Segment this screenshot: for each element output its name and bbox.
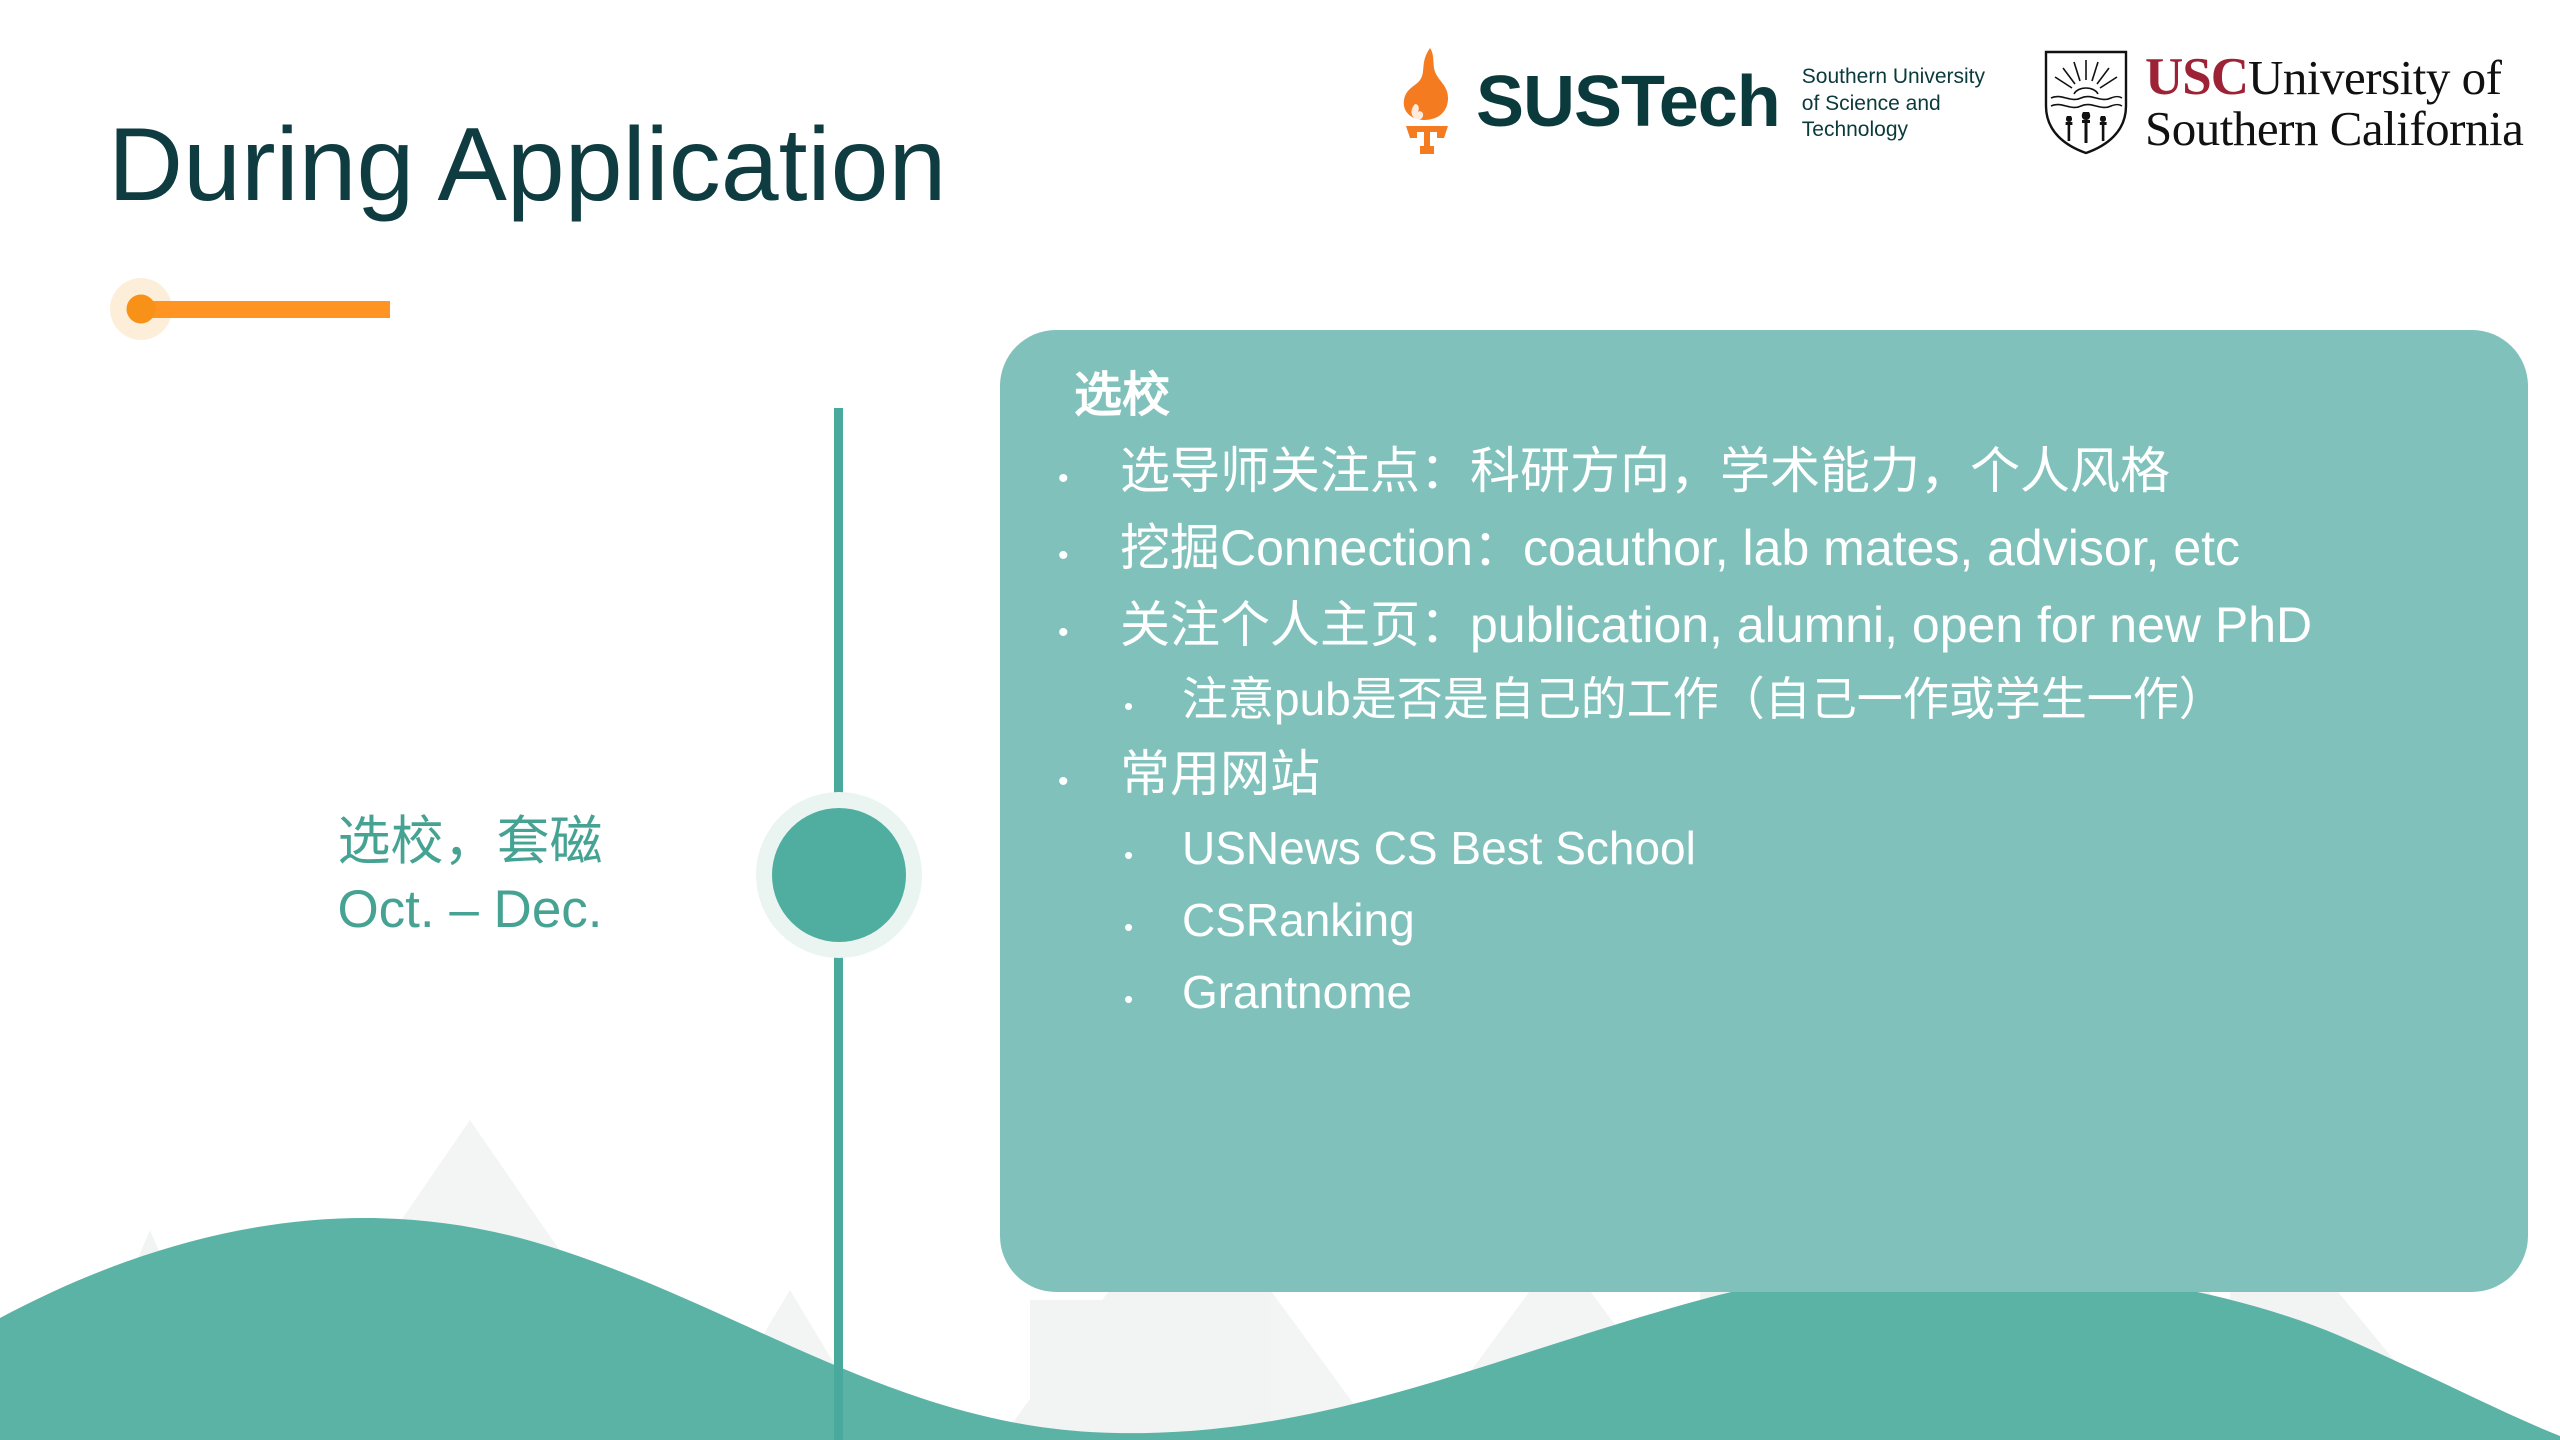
sustech-torch-icon xyxy=(1390,46,1464,158)
usc-shield-crest-icon xyxy=(2043,48,2129,156)
usc-wordmark: USCUniversity of Southern California xyxy=(2145,51,2523,153)
sustech-wordmark-main: SUST xyxy=(1476,62,1659,142)
list-item: • USNews CS Best School xyxy=(1124,819,2488,879)
page-title: During Application xyxy=(108,108,946,222)
list-item: • 选导师关注点：科研方向，学术能力，个人风格 xyxy=(1058,439,2488,504)
bullet-dot-icon: • xyxy=(1058,767,1120,797)
sustech-tagline-line-2: of Science and xyxy=(1802,91,1985,118)
list-item-label: 挖掘Connection：coauthor, lab mates, adviso… xyxy=(1120,516,2240,581)
list-item: • 挖掘Connection：coauthor, lab mates, advi… xyxy=(1058,516,2488,581)
list-item: • 关注个人主页：publication, alumni, open for n… xyxy=(1058,593,2488,658)
card-heading: 选校 xyxy=(1074,364,2488,427)
list-item-label: CSRanking xyxy=(1182,891,1415,951)
timeline-label-line-1: 选校，套磁 xyxy=(200,808,740,876)
bullet-dot-icon: • xyxy=(1124,693,1182,719)
list-item: • CSRanking xyxy=(1124,891,2488,951)
bullet-dot-icon: • xyxy=(1058,464,1120,494)
content-card: 选校 • 选导师关注点：科研方向，学术能力，个人风格 • 挖掘Connectio… xyxy=(1000,330,2528,1292)
bullet-dot-icon: • xyxy=(1124,842,1182,868)
list-item: • Grantnome xyxy=(1124,963,2488,1023)
sustech-tagline-line-1: Southern University xyxy=(1802,64,1985,91)
bullet-dot-icon: • xyxy=(1058,541,1120,571)
usc-line-1: University of xyxy=(2248,50,2501,105)
list-item: • 注意pub是否是自己的工作（自己一作或学生一作） xyxy=(1124,670,2488,730)
bullet-dot-icon: • xyxy=(1124,914,1182,940)
timeline-label-line-2: Oct. – Dec. xyxy=(200,876,740,944)
list-item-label: 注意pub是否是自己的工作（自己一作或学生一作） xyxy=(1182,670,2225,730)
accent-dot xyxy=(127,295,156,324)
list-item-label: USNews CS Best School xyxy=(1182,819,1696,879)
sustech-logo: SUSTech Southern University of Science a… xyxy=(1390,46,1985,158)
bullet-list: • 选导师关注点：科研方向，学术能力，个人风格 • 挖掘Connection：c… xyxy=(1040,439,2488,1022)
list-item: • 常用网站 xyxy=(1058,742,2488,807)
list-item-label: 选导师关注点：科研方向，学术能力，个人风格 xyxy=(1120,439,2170,504)
sustech-tagline: Southern University of Science and Techn… xyxy=(1802,64,1985,145)
usc-line-2: Southern California xyxy=(2145,104,2523,153)
usc-wordmark-line-1: USCUniversity of xyxy=(2145,51,2523,104)
accent-bar xyxy=(141,301,390,318)
logo-row: SUSTech Southern University of Science a… xyxy=(1390,46,2523,158)
sustech-wordmark-tail: ech xyxy=(1659,62,1780,142)
sustech-wordmark: SUSTech xyxy=(1476,66,1780,138)
timeline-label: 选校，套磁 Oct. – Dec. xyxy=(200,808,740,944)
title-accent-marker xyxy=(110,278,390,340)
list-item-label: Grantnome xyxy=(1182,963,1412,1023)
bullet-dot-icon: • xyxy=(1058,618,1120,648)
list-item-label: 关注个人主页：publication, alumni, open for new… xyxy=(1120,593,2312,658)
usc-abbr: USC xyxy=(2145,48,2248,106)
bullet-dot-icon: • xyxy=(1124,986,1182,1012)
list-item-label: 常用网站 xyxy=(1120,742,1320,807)
usc-logo: USCUniversity of Southern California xyxy=(2043,48,2523,156)
sustech-tagline-line-3: Technology xyxy=(1802,117,1985,144)
timeline-node-dot xyxy=(772,808,906,942)
